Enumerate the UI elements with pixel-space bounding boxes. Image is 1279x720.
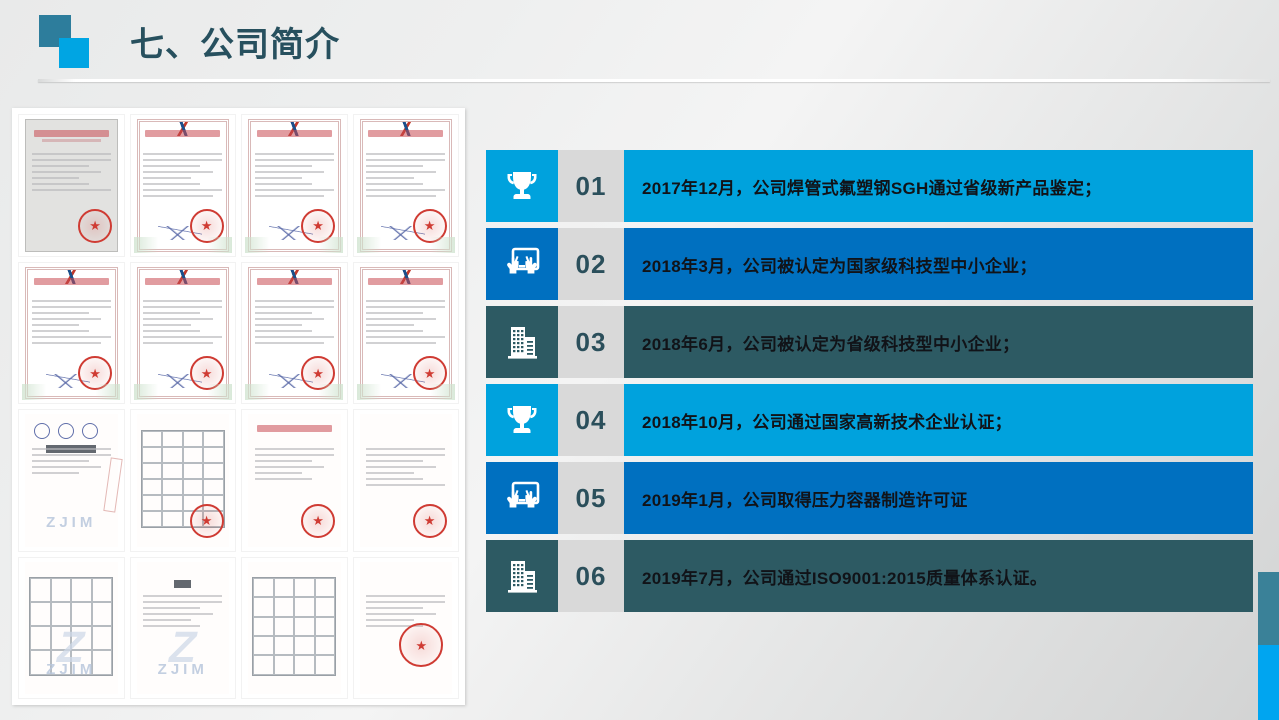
milestone-row-03[interactable]: 03 2018年6月，公司被认定为省级科技型中小企业； [486, 306, 1253, 378]
certificate-utility-model-2 [353, 114, 460, 257]
certificate-subheading-bar [42, 139, 101, 142]
certificate-row [18, 114, 459, 257]
building-icon [502, 322, 542, 362]
certificate-utility-model-6 [353, 262, 460, 405]
certificate-ornament [245, 384, 343, 400]
trophy-icon [502, 166, 542, 206]
report-title-bar [174, 580, 191, 588]
red-seal-icon [301, 504, 335, 538]
red-seal-icon [413, 504, 447, 538]
certificate-heading-bar [34, 130, 109, 137]
milestone-icon-box [486, 150, 558, 222]
milestone-icon-box [486, 228, 558, 300]
certificate-heading-bar [257, 425, 332, 432]
certificate-utility-model-5 [241, 262, 348, 405]
decoration-bar-cyan [1258, 645, 1279, 720]
tablet-hands-icon [502, 244, 542, 284]
milestone-number: 03 [558, 306, 624, 378]
trophy-icon [502, 400, 542, 440]
inspection-form-1 [130, 409, 237, 552]
zjim-watermark: ZJIM [131, 661, 236, 678]
zjim-watermark: ZJIM [19, 661, 124, 678]
certificate-row: ZJIM [18, 409, 459, 552]
milestone-icon-box [486, 384, 558, 456]
certificate-heading-bar [145, 278, 220, 285]
certificate-ornament [245, 237, 343, 253]
inspection-certificate-1 [241, 409, 348, 552]
header-divider [38, 79, 1270, 82]
milestone-number: 01 [558, 150, 624, 222]
tablet-hands-icon [502, 478, 542, 518]
certificate-utility-model-1 [241, 114, 348, 257]
certificate-ornament [357, 384, 455, 400]
milestone-number: 02 [558, 228, 624, 300]
inspection-certificate-2 [353, 409, 460, 552]
certificate-heading-bar [368, 130, 443, 137]
milestone-row-05[interactable]: 05 2019年1月，公司取得压力容器制造许可证 [486, 462, 1253, 534]
milestone-text: 2019年1月，公司取得压力容器制造许可证 [624, 462, 1253, 534]
certificate-row [18, 262, 459, 405]
milestone-text: 2018年10月，公司通过国家高新技术企业认证； [624, 384, 1253, 456]
data-table-1: Z ZJIM [18, 557, 125, 700]
milestone-text: 2017年12月，公司焊管式氟塑钢SGH通过省级新产品鉴定； [624, 150, 1253, 222]
certificate-heading-bar [257, 130, 332, 137]
milestone-row-01[interactable]: 01 2017年12月，公司焊管式氟塑钢SGH通过省级新产品鉴定； [486, 150, 1253, 222]
milestone-text: 2018年6月，公司被认定为省级科技型中小企业； [624, 306, 1253, 378]
page-title: 七、公司简介 [130, 17, 340, 66]
certificate-text-lines [32, 448, 111, 520]
certificate-ornament [22, 384, 120, 400]
milestone-number: 04 [558, 384, 624, 456]
building-icon [502, 556, 542, 596]
certificate-image-panel: ZJIM [12, 108, 465, 705]
certificate-ornament [357, 237, 455, 253]
milestone-row-02[interactable]: 02 2018年3月，公司被认定为国家级科技型中小企业； [486, 228, 1253, 300]
milestone-number: 06 [558, 540, 624, 612]
certificate-heading-bar [34, 278, 109, 285]
slide-company-profile: 七、公司简介 [0, 0, 1279, 720]
certificate-heading-bar [257, 278, 332, 285]
milestone-text: 2019年7月，公司通过ISO9001:2015质量体系认证。 [624, 540, 1253, 612]
certificate-ornament [134, 384, 232, 400]
milestone-icon-box [486, 306, 558, 378]
milestone-row-04[interactable]: 04 2018年10月，公司通过国家高新技术企业认证； [486, 384, 1253, 456]
milestone-icon-box [486, 540, 558, 612]
certificate-invention-patent [130, 114, 237, 257]
red-seal-icon [190, 504, 224, 538]
decoration-bar-teal [1258, 572, 1279, 645]
milestone-row-06[interactable]: 06 2019年7月，公司通过ISO9001:2015质量体系认证。 [486, 540, 1253, 612]
permit-doc-1 [353, 557, 460, 700]
certificate-utility-model-3 [18, 262, 125, 405]
certificate-row: Z ZJIM Z ZJIM [18, 557, 459, 700]
certificate-trademark [18, 114, 125, 257]
test-report-1: ZJIM [18, 409, 125, 552]
milestone-number: 05 [558, 462, 624, 534]
certificate-utility-model-4 [130, 262, 237, 405]
zjim-watermark: ZJIM [19, 514, 124, 531]
data-table-2 [241, 557, 348, 700]
milestone-text: 2018年3月，公司被认定为国家级科技型中小企业； [624, 228, 1253, 300]
certificate-heading-bar [368, 278, 443, 285]
statement-doc-1: Z ZJIM [130, 557, 237, 700]
milestone-list: 01 2017年12月，公司焊管式氟塑钢SGH通过省级新产品鉴定； 02 201… [486, 150, 1253, 618]
milestone-icon-box [486, 462, 558, 534]
red-seal-icon [399, 623, 443, 667]
red-seal-icon [78, 209, 112, 243]
header-square-cyan [59, 38, 89, 68]
certificate-heading-bar [145, 130, 220, 137]
accreditation-badges [34, 423, 98, 439]
certificate-ornament [134, 237, 232, 253]
form-grid [252, 577, 336, 675]
